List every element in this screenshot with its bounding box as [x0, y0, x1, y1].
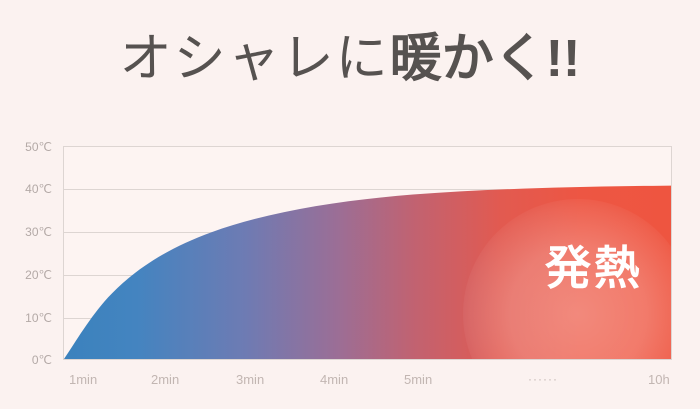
promo-chart-graphic: オシャレに暖かく!! 50℃ 40℃ 30℃ 20℃ 10℃ 0℃ — [0, 0, 700, 409]
plot-area: 発熱 — [63, 146, 672, 360]
x-axis-label-5min: 5min — [404, 372, 432, 387]
x-axis-label-1min: 1min — [69, 372, 97, 387]
x-axis-label-10h: 10h — [648, 372, 670, 387]
page-title: オシャレに暖かく!! — [0, 28, 700, 90]
y-axis-label-10: 10℃ — [0, 311, 52, 325]
x-axis-label-ellipsis: ······ — [528, 372, 558, 386]
x-axis-label-3min: 3min — [236, 372, 264, 387]
y-axis-label-0: 0℃ — [0, 353, 52, 367]
x-axis-label-2min: 2min — [151, 372, 179, 387]
x-axis-label-4min: 4min — [320, 372, 348, 387]
page-title-heavy-part: 暖かく!! — [390, 30, 581, 88]
heat-badge-label: 発熱 — [545, 243, 643, 293]
y-axis-label-40: 40℃ — [0, 182, 52, 196]
temperature-chart: 50℃ 40℃ 30℃ 20℃ 10℃ 0℃ — [0, 130, 700, 409]
y-axis-label-20: 20℃ — [0, 268, 52, 282]
y-axis-label-50: 50℃ — [0, 140, 52, 154]
y-axis-label-30: 30℃ — [0, 225, 52, 239]
page-title-light-part: オシャレに — [120, 30, 390, 88]
